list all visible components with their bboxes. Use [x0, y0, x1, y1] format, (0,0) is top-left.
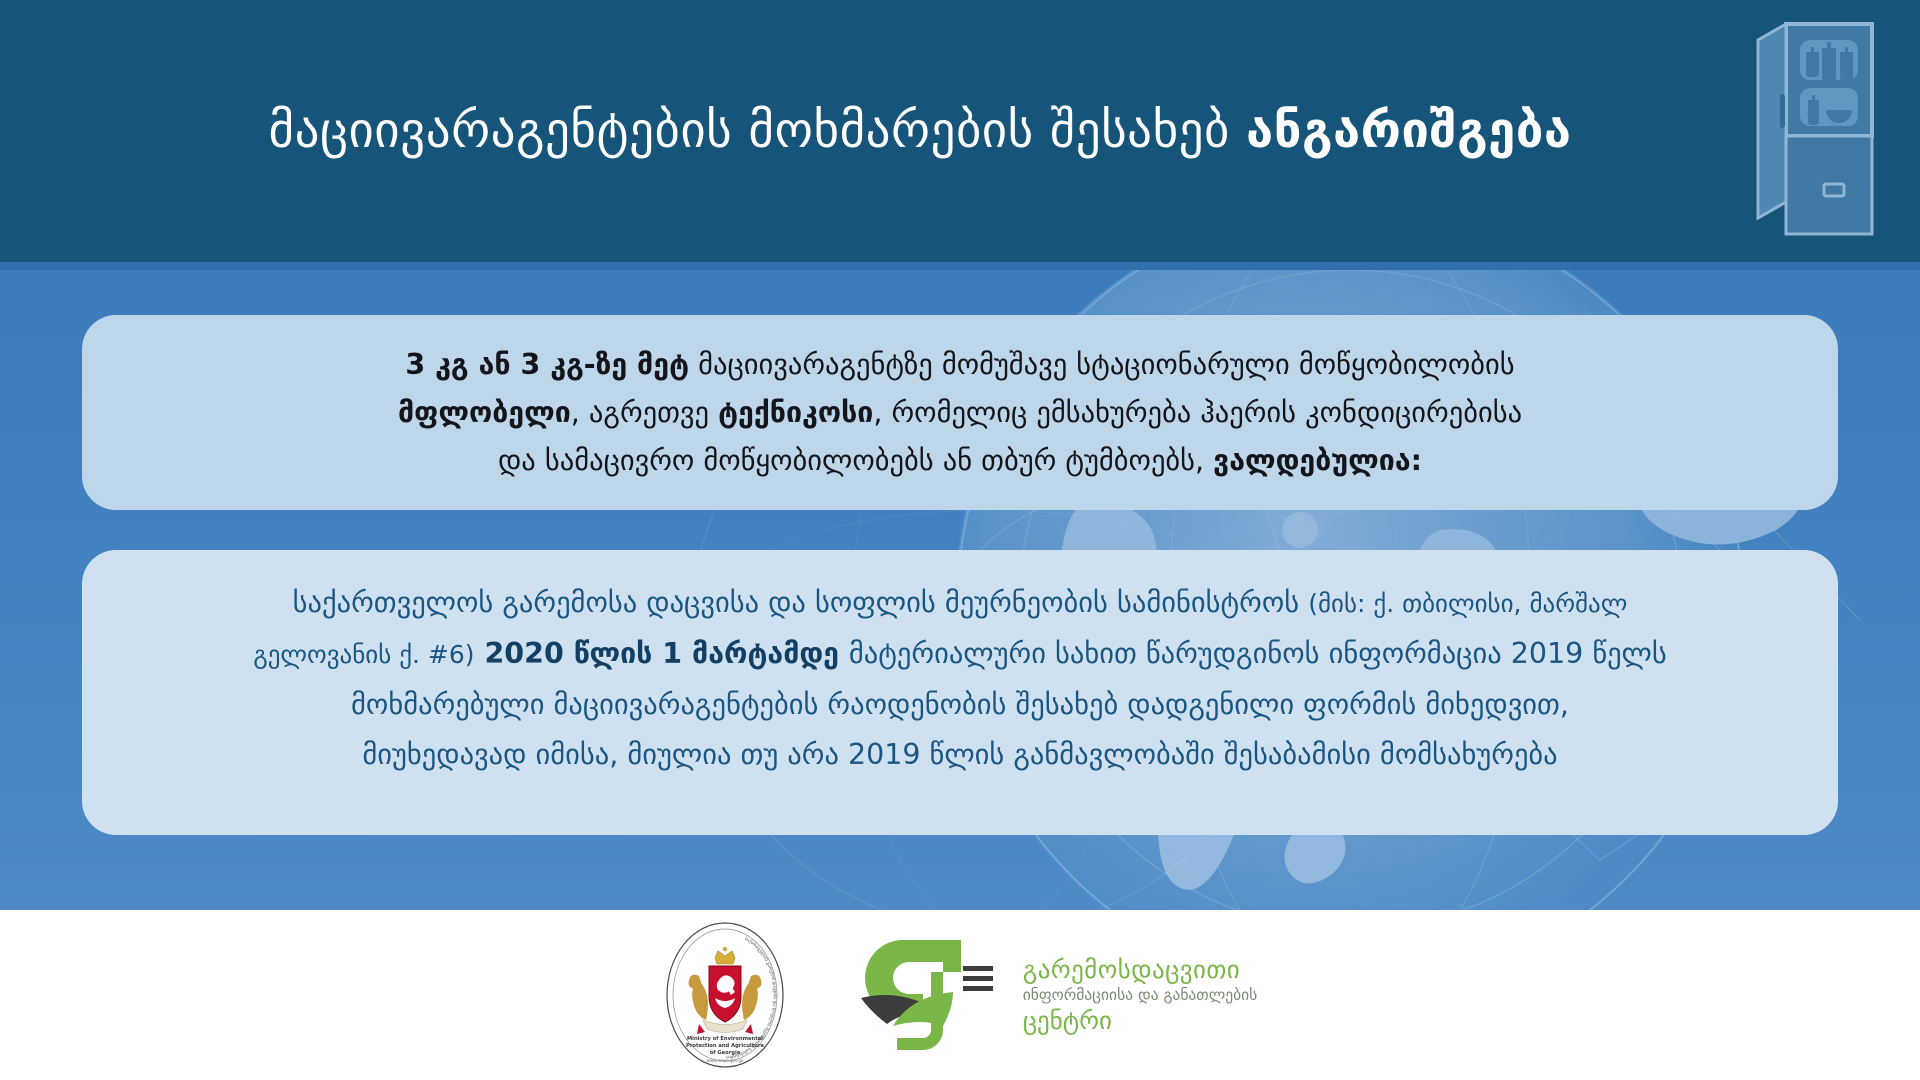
seal-caption-url: www.mepa.gov.ge: [706, 1058, 743, 1063]
centre-logo-line1: გარემოსდაცვითი: [1023, 955, 1257, 985]
deadline-panel: საქართველოს გარემოსა დაცვისა და სოფლის მ…: [82, 550, 1838, 835]
panel2-line2-rest: მატერიალური სახით წარუდგინოს ინფორმაცია …: [849, 637, 1667, 670]
environmental-centre-logo: გარემოსდაცვითი ინფორმაციისა და განათლები…: [857, 932, 1257, 1058]
ministry-of-environment-seal-logo: საქართველოს გარემოს დაცვისა და სოფლის მე…: [663, 920, 787, 1070]
footer-logos: საქართველოს გარემოს დაცვისა და სოფლის მე…: [0, 910, 1920, 1080]
panel2-line1-address-start: (მის: ქ. თბილისი, მარშალ: [1308, 589, 1627, 618]
panel2-line2-address-end: გელოვანის ქ. #6): [253, 640, 474, 669]
panel1-line-1: 3 კგ ან 3 კგ-ზე მეტ მაციივარაგენტზე მომუ…: [142, 341, 1778, 389]
infographic-poster: მაციივარაგენტების მოხმარების შესახებ ანგ…: [0, 0, 1920, 1080]
panel1-line-2: მფლობელი, აგრეთვე ტექნიკოსი, რომელიც ემს…: [142, 389, 1778, 437]
panel1-line2-mid: , აგრეთვე: [571, 396, 718, 429]
seal-caption-en-line3: of Georgia: [710, 1050, 741, 1056]
centre-logo-line2: ინფორმაციისა და განათლების: [1023, 985, 1257, 1006]
seal-caption-en-line2: Protection and Agriculture: [686, 1043, 764, 1049]
content-area: 3 კგ ან 3 კგ-ზე მეტ მაციივარაგენტზე მომუ…: [0, 270, 1920, 910]
page-title: მაციივარაგენტების მოხმარების შესახებ ანგ…: [0, 0, 1780, 262]
panel1-line2-bold-technician: ტექნიკოსი: [718, 396, 873, 429]
panel2-line1-main: საქართველოს გარემოსა დაცვისა და სოფლის მ…: [293, 586, 1309, 619]
panel1-line-3: და სამაცივრო მოწყობილობებს ან თბურ ტუმბო…: [142, 437, 1778, 485]
centre-logo-mark-icon: [857, 932, 1009, 1058]
page-title-regular: მაციივარაგენტების მოხმარების შესახებ: [268, 102, 1246, 159]
panel2-line-4: მიუხედავად იმისა, მიულია თუ არა 2019 წლი…: [126, 730, 1794, 780]
header-divider: [0, 262, 1920, 270]
panel1-line2-bold-owner: მფლობელი: [398, 396, 571, 429]
panel1-line1-bold: 3 კგ ან 3 კგ-ზე მეტ: [405, 348, 689, 381]
panel1-line3-bold: ვალდებულია:: [1213, 444, 1422, 477]
seal-caption-en-line1: Ministry of Environmental: [687, 1036, 763, 1042]
panel2-line-2: გელოვანის ქ. #6) 2020 წლის 1 მარტამდე მა…: [126, 629, 1794, 680]
panel2-line-1: საქართველოს გარემოსა დაცვისა და სოფლის მ…: [126, 578, 1794, 629]
centre-logo-line3: ცენტრი: [1023, 1006, 1257, 1036]
refrigerator-icon: [1752, 18, 1892, 240]
panel2-deadline-date: 2020 წლის 1 მარტამდე: [475, 637, 849, 670]
page-title-bold: ანგარიშგება: [1246, 102, 1572, 159]
panel2-line-3: მოხმარებული მაციივარაგენტების რაოდენობის…: [126, 680, 1794, 730]
panel1-line1-rest: მაციივარაგენტზე მომუშავე სტაციონარული მო…: [689, 348, 1515, 381]
requirement-panel: 3 კგ ან 3 კგ-ზე მეტ მაციივარაგენტზე მომუ…: [82, 315, 1838, 510]
header-banner: მაციივარაგენტების მოხმარების შესახებ ანგ…: [0, 0, 1920, 270]
centre-logo-wordmark: გარემოსდაცვითი ინფორმაციისა და განათლები…: [1023, 955, 1257, 1036]
panel1-line2-rest: , რომელიც ემსახურება ჰაერის კონდიცირების…: [873, 396, 1522, 429]
panel1-line3-rest: და სამაცივრო მოწყობილობებს ან თბურ ტუმბო…: [498, 444, 1213, 477]
